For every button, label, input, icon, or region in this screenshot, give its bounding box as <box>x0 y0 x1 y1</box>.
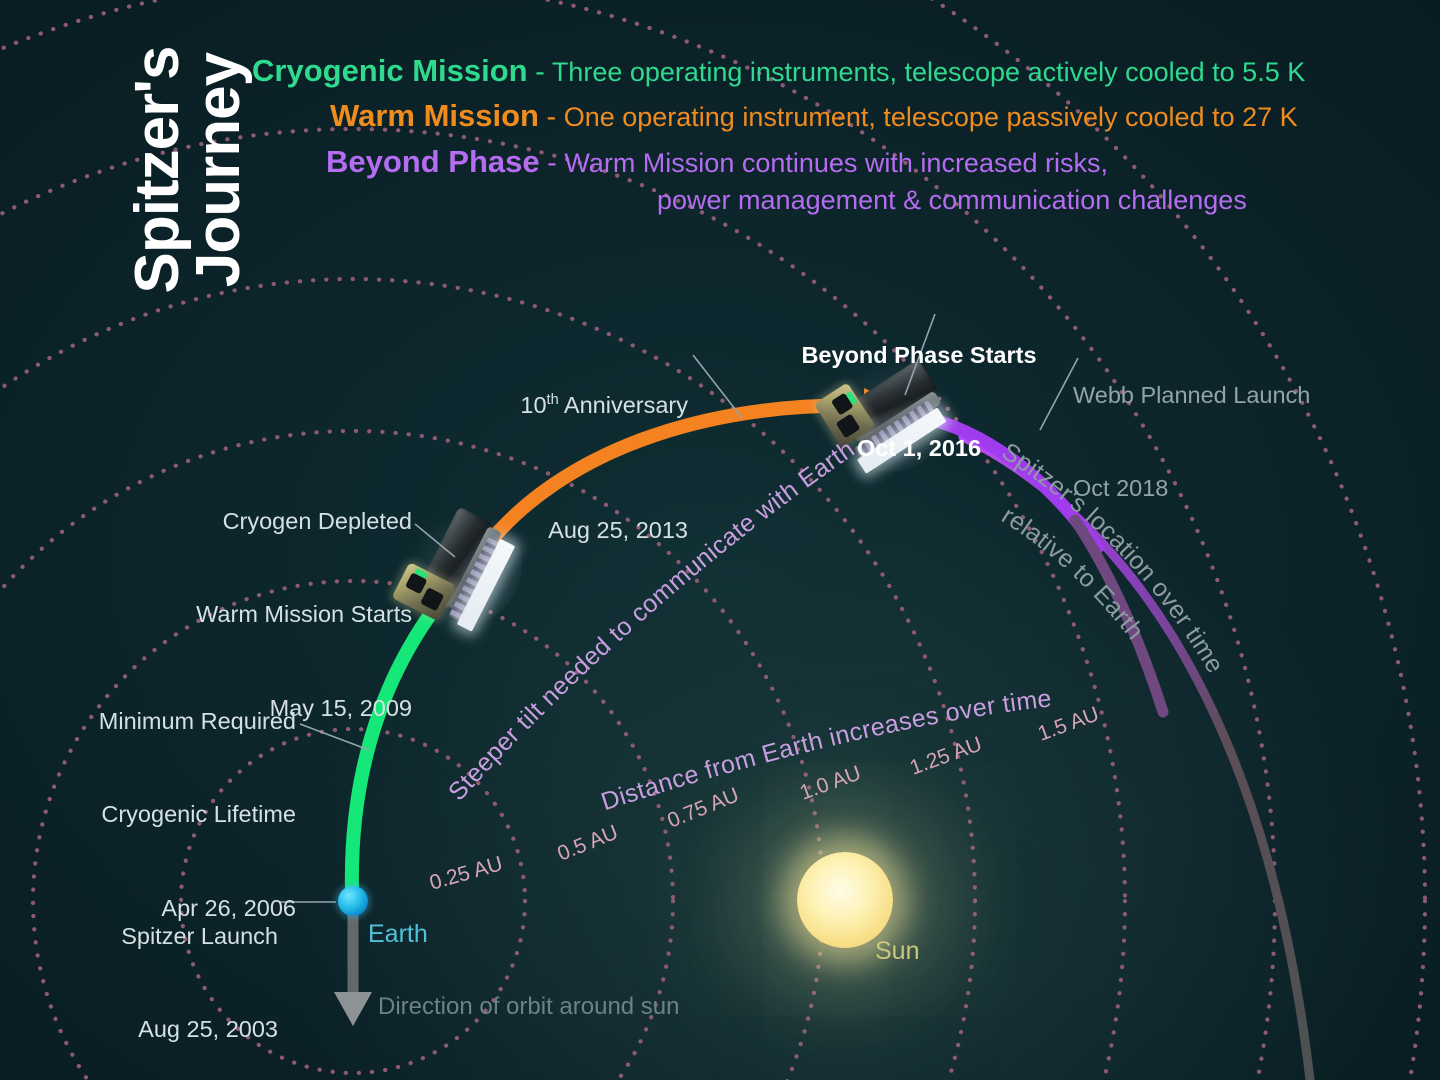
event-beyond-line1: Beyond Phase Starts <box>790 340 1048 371</box>
event-anniversary-ordinal: th <box>547 392 559 408</box>
event-label-beyond-starts: Beyond Phase Starts Oct 1, 2016 <box>790 277 1048 527</box>
event-beyond-line2: Oct 1, 2016 <box>790 433 1048 464</box>
legend-desc-beyond: Warm Mission continues with increased ri… <box>564 148 1108 178</box>
legend-label-cryogenic: Cryogenic Mission <box>252 53 528 88</box>
event-cryodep-line3: May 15, 2009 <box>140 693 412 724</box>
legend-desc-beyond-2: power management & communication challen… <box>326 181 1412 220</box>
event-cryodep-line2: Warm Mission Starts <box>140 599 412 630</box>
event-label-cryogen-depleted: Cryogen Depleted Warm Mission Starts May… <box>140 443 412 787</box>
event-anniversary-number: 10 <box>520 392 546 418</box>
infographic-canvas: 0.25 AU 0.5 AU 0.75 AU 1.0 AU 1.25 AU 1.… <box>0 0 1440 1080</box>
legend-dash-warm: - <box>547 101 557 133</box>
legend-item-cryogenic: Cryogenic Mission - Three operating inst… <box>252 48 1412 93</box>
legend-desc-warm: One operating instrument, telescope pass… <box>564 102 1298 132</box>
event-launch-line2: Aug 25, 2003 <box>60 1014 278 1045</box>
event-anniversary-line1: 10th Anniversary <box>460 359 688 453</box>
event-anniversary-line2: Aug 25, 2013 <box>460 515 688 546</box>
legend-item-warm: Warm Mission - One operating instrument,… <box>252 93 1412 138</box>
legend-desc-cryogenic: Three operating instruments, telescope a… <box>552 57 1305 87</box>
legend-label-beyond: Beyond Phase <box>326 144 540 179</box>
event-mincryo-line2: Cryogenic Lifetime <box>34 799 296 830</box>
legend-item-beyond: Beyond Phase - Warm Mission continues wi… <box>252 139 1412 221</box>
event-mincryo-line3: Apr 26, 2006 <box>34 893 296 924</box>
legend-label-warm: Warm Mission <box>330 98 539 133</box>
title-line-1: Spitzer's <box>127 0 188 365</box>
mission-phase-legend: Cryogenic Mission - Three operating inst… <box>252 48 1412 220</box>
event-webb-line1: Webb Planned Launch <box>1073 380 1373 411</box>
annotation-direction-of-orbit: Direction of orbit around sun <box>378 993 680 1021</box>
leader-cryogen-depleted <box>415 524 455 557</box>
event-webb-line2: Oct 2018 <box>1073 473 1373 504</box>
legend-dash-beyond: - <box>547 147 557 179</box>
leader-anniversary <box>693 355 742 418</box>
event-label-webb: Webb Planned Launch Oct 2018 <box>1073 317 1373 567</box>
event-label-anniversary: 10th Anniversary Aug 25, 2013 <box>460 296 688 609</box>
title-line-2: Journey <box>188 0 249 365</box>
event-cryodep-line1: Cryogen Depleted <box>140 506 412 537</box>
event-anniversary-rest: Anniversary <box>559 392 688 418</box>
legend-dash-cryogenic: - <box>535 56 545 88</box>
